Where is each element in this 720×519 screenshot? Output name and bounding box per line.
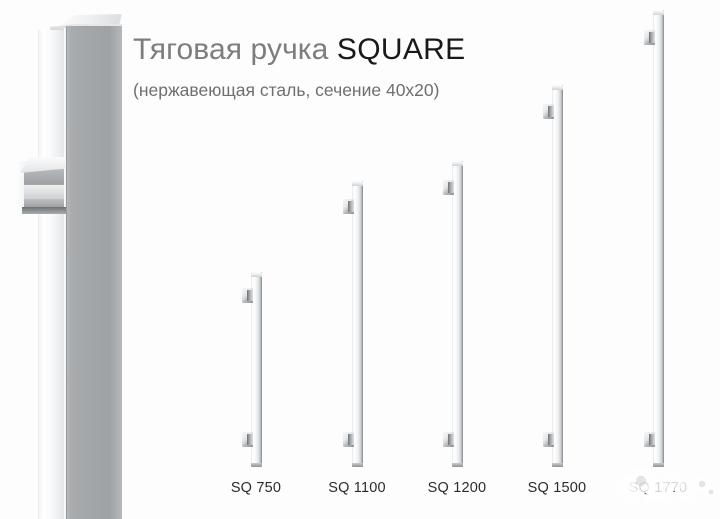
product-bar-mount-top (644, 30, 655, 45)
product-bar-mount-bottom (242, 432, 253, 447)
product-bar-bottom-cap (653, 463, 664, 467)
product-image-canvas: Тяговая ручка SQUARE (нержавеющая сталь,… (0, 0, 720, 519)
page-subtitle: (нержавеющая сталь, сечение 40x20) (133, 80, 439, 101)
product-bar-body (352, 181, 363, 467)
page-title-en: SQUARE (337, 33, 466, 66)
product-bar-mount-bottom (443, 432, 454, 447)
product-bar-top-cap (653, 10, 664, 15)
product-bar-bottom-cap (352, 463, 363, 467)
product-bar-top-cap (552, 85, 563, 90)
product-bar-top-cap (352, 181, 363, 186)
page-title-ru: Тяговая ручка (133, 33, 337, 66)
wall-bracket (16, 157, 68, 217)
product-label: SQ 1770 (629, 480, 688, 496)
product-label: SQ 1200 (428, 480, 487, 496)
product-bar (251, 272, 262, 467)
handle-front-face (66, 26, 122, 519)
product-bar (352, 181, 363, 467)
product-bar-bottom-cap (251, 463, 262, 467)
product-bar-mount-bottom (644, 432, 655, 447)
product-label: SQ 750 (231, 480, 281, 496)
product-bar-mount-top (343, 199, 354, 214)
large-handle-illustration (38, 14, 122, 519)
handle-left-face (38, 30, 67, 519)
product-label: SQ 1100 (328, 480, 386, 496)
product-bar-bottom-cap (552, 463, 563, 467)
product-bar-mount-top (242, 288, 253, 303)
product-bar (552, 85, 563, 467)
product-bar-mount-bottom (343, 432, 354, 447)
bracket-underside-shadow (22, 207, 66, 214)
product-bar-bottom-cap (452, 463, 463, 467)
product-bar (653, 10, 664, 467)
page-title: Тяговая ручка SQUARE (133, 33, 465, 66)
product-bar-top-cap (251, 272, 262, 277)
product-bar-top-cap (452, 161, 463, 166)
product-bar-mount-top (543, 104, 554, 119)
product-bar-mount-bottom (543, 432, 554, 447)
product-bar-mount-top (443, 180, 454, 195)
product-bar (452, 161, 463, 467)
product-bar-body (653, 10, 664, 467)
product-label: SQ 1500 (528, 480, 587, 496)
product-bar-body (452, 161, 463, 467)
product-bar-body (552, 85, 563, 467)
bracket-body-highlight (24, 185, 64, 199)
